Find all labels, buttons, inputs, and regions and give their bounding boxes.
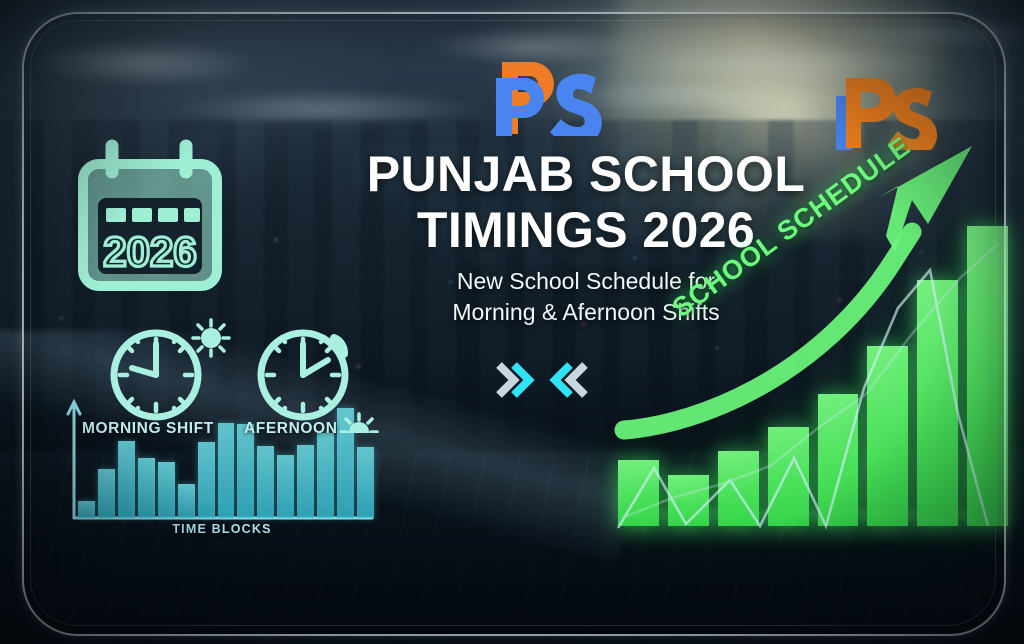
subtitle-line-1: New School Schedule for: [336, 266, 836, 297]
time-block-bar: [257, 446, 274, 518]
time-block-bar: [237, 424, 254, 518]
chevron-left-outer-icon: [570, 365, 585, 395]
logo-left-s-blue-icon: [550, 74, 602, 136]
chevron-right-outer-icon: [499, 365, 514, 395]
time-block-bar: [78, 501, 95, 518]
double-chevron-divider: [492, 358, 592, 407]
morning-sun-icon: [193, 320, 229, 356]
afternoon-clock-icon: [261, 333, 345, 417]
time-block-bar: [98, 469, 115, 518]
calendar-year-text: 2026: [103, 228, 196, 275]
time-block-bar: [357, 447, 374, 518]
time-block-bar: [317, 433, 334, 518]
time-blocks-axis-label: TIME BLOCKS: [62, 522, 382, 536]
time-block-bar: [198, 442, 215, 518]
time-block-bar: [297, 445, 314, 518]
calendar-2026-icon: 2026: [70, 136, 230, 311]
shift-label-afternoon: AFERNOON: [244, 420, 338, 438]
afternoon-sun-icon: [341, 414, 377, 433]
poster-canvas: 2026: [0, 0, 1024, 644]
logo-left-p-blue-icon: [496, 78, 544, 136]
ps-logo-left[interactable]: [496, 60, 606, 136]
time-block-bar: [138, 458, 155, 518]
morning-clock-icon: [114, 333, 198, 417]
time-block-bar: [277, 455, 294, 518]
title-line-1: PUNJAB SCHOOL: [336, 146, 836, 202]
time-block-bar: [158, 462, 175, 518]
time-block-bar: [178, 484, 195, 518]
subtitle-line-2: Morning & Afernoon Shifts: [336, 297, 836, 328]
time-block-bar: [118, 441, 135, 518]
shift-label-morning: MORNING SHIFT: [82, 420, 214, 438]
